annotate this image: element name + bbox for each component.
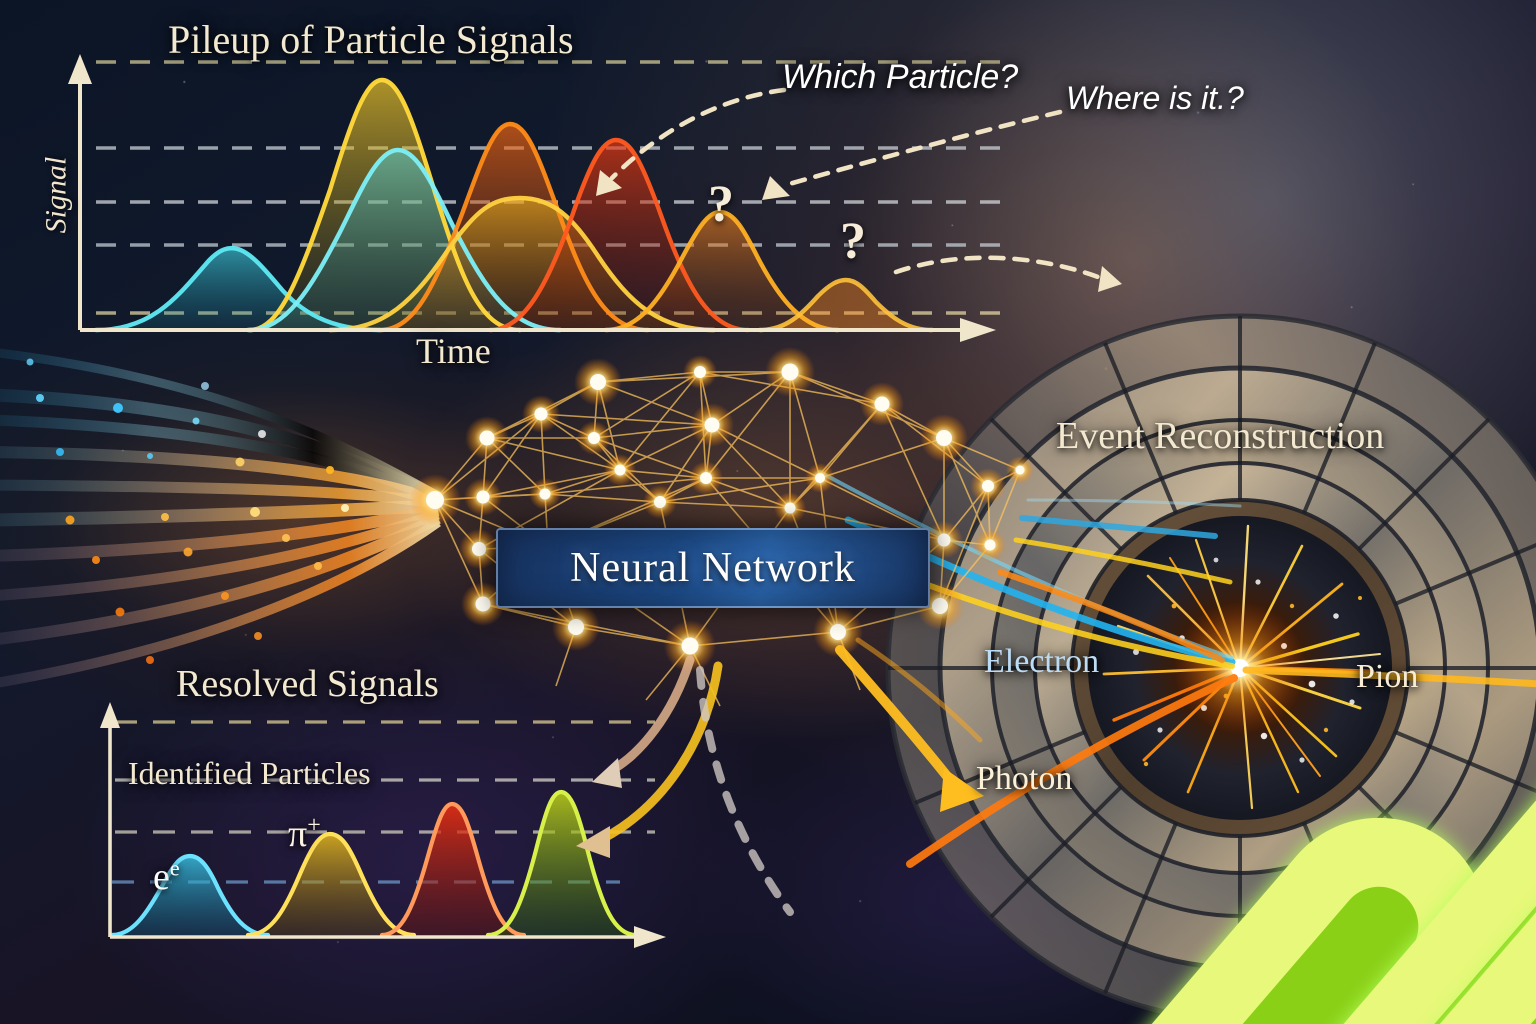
- detector-label-electron: Electron: [984, 643, 1099, 681]
- annotation-which-particle: Which Particle?: [782, 58, 1018, 97]
- neural-network-label-box[interactable]: Neural Network: [496, 528, 930, 608]
- annotation-where-is-it: Where is it.?: [1066, 80, 1244, 117]
- check-mark-icon-3: [509, 735, 1536, 1024]
- resolved-chart-title: Resolved Signals: [176, 662, 439, 706]
- pileup-x-axis-label: Time: [416, 330, 491, 372]
- identified-particles-label: Identified Particles: [128, 755, 371, 792]
- infographic-canvas: Pileup of Particle Signals Signal Time W…: [0, 0, 1536, 1024]
- event-reconstruction-title: Event Reconstruction: [1056, 414, 1384, 458]
- pileup-y-axis-label: Signal: [39, 157, 73, 234]
- detector-label-pion: Pion: [1356, 658, 1418, 696]
- pileup-chart-title: Pileup of Particle Signals: [168, 16, 574, 63]
- question-mark-2: ?: [840, 212, 866, 271]
- neural-network-label: Neural Network: [570, 544, 856, 592]
- question-mark-1: ?: [708, 175, 734, 234]
